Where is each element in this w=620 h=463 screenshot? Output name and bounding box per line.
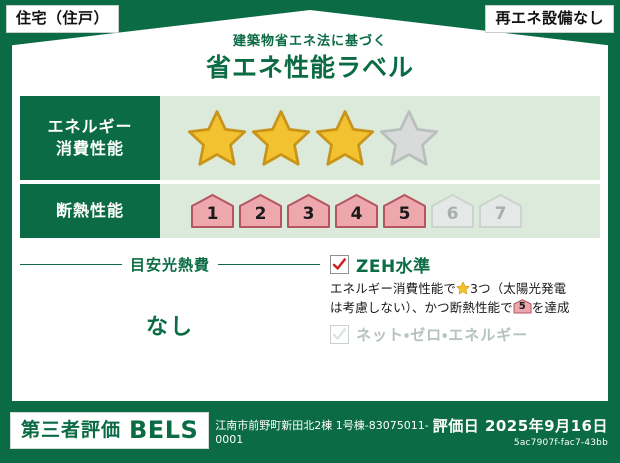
zeh-description: エネルギー消費性能で 3つ（太陽光発電 は考慮しない）、かつ断熱性能で 5 を達… bbox=[330, 280, 600, 318]
label-body-card: エネルギー 消費性能 断熱性能 1234567 目安光熱費 なし bbox=[12, 88, 608, 401]
mini-house-level: 5 bbox=[513, 299, 532, 314]
utility-cost-label: 目安光熱費 bbox=[130, 254, 210, 275]
row-energy-header-line2: 消費性能 bbox=[56, 138, 124, 160]
insulation-level-label: 6 bbox=[447, 206, 459, 229]
insulation-level-label: 3 bbox=[303, 206, 315, 229]
evaluation-date-value: 2025年9月16日 bbox=[485, 417, 608, 435]
insulation-level-3: 3 bbox=[286, 193, 331, 229]
star-empty bbox=[378, 108, 440, 168]
row-insulation-body: 1234567 bbox=[160, 184, 600, 238]
rule-right bbox=[218, 264, 320, 265]
mini-house-icon: 5 bbox=[513, 299, 532, 314]
evaluation-date: 評価日 2025年9月16日 bbox=[433, 418, 608, 435]
row-insulation-header: 断熱性能 bbox=[20, 184, 160, 238]
star-filled bbox=[186, 108, 248, 168]
star-filled bbox=[314, 108, 376, 168]
certificate-hash: 5ac7907f-fac7-43bb bbox=[433, 437, 608, 450]
zeh-desc-stars: 3つ（太陽光発電 bbox=[470, 281, 566, 296]
insulation-level-2: 2 bbox=[238, 193, 283, 229]
row-energy-header-line1: エネルギー bbox=[47, 116, 132, 138]
bels-logo: 第三者評価 BELS bbox=[10, 412, 209, 449]
row-insulation-performance: 断熱性能 1234567 bbox=[20, 184, 600, 238]
zeh-title: ZEH水準 bbox=[356, 252, 431, 277]
insulation-level-label: 1 bbox=[207, 206, 219, 229]
insulation-level-7: 7 bbox=[478, 193, 523, 229]
insulation-level-1: 1 bbox=[190, 193, 235, 229]
row-energy-body bbox=[160, 96, 600, 180]
row-energy-performance: エネルギー 消費性能 bbox=[20, 96, 600, 180]
insulation-level-label: 2 bbox=[255, 206, 267, 229]
zeh-desc-part1: エネルギー消費性能で bbox=[330, 281, 456, 296]
badge-renewable-energy: 再エネ設備なし bbox=[485, 5, 614, 33]
footer: 第三者評価 BELS 江南市前野町新田北2棟 1号棟-83075011-0001… bbox=[0, 405, 620, 463]
zeh-checkbox bbox=[330, 255, 349, 274]
property-address: 江南市前野町新田北2棟 1号棟-83075011-0001 bbox=[215, 419, 430, 448]
star-rating bbox=[186, 108, 440, 168]
zeh-block: ZEH水準 エネルギー消費性能で 3つ（太陽光発電 は考慮しない）、かつ断熱性能… bbox=[320, 246, 600, 393]
star-filled bbox=[250, 108, 312, 168]
insulation-level-6: 6 bbox=[430, 193, 475, 229]
insulation-level-5: 5 bbox=[382, 193, 427, 229]
zeh-title-row: ZEH水準 bbox=[330, 252, 600, 277]
badge-building-type: 住宅（住戸） bbox=[6, 5, 119, 33]
insulation-level-label: 5 bbox=[399, 206, 411, 229]
zeh-desc-part3: を達成 bbox=[532, 300, 570, 315]
row-energy-header: エネルギー 消費性能 bbox=[20, 96, 160, 180]
net-zero-row: ネット・ゼロ・エネルギー bbox=[330, 324, 600, 345]
utility-cost-block: 目安光熱費 なし bbox=[20, 246, 320, 393]
bels-energy-label: 住宅（住戸） 再エネ設備なし 建築物省エネ法に基づく 省エネ性能ラベル エネルギ… bbox=[0, 0, 620, 463]
insulation-level-label: 4 bbox=[351, 206, 363, 229]
bels-logo-jp: 第三者評価 bbox=[21, 421, 121, 440]
mini-star-icon bbox=[456, 281, 470, 295]
net-zero-checkbox bbox=[330, 325, 349, 344]
lower-section: 目安光熱費 なし ZEH水準 エネルギー消費性能で bbox=[20, 246, 600, 393]
utility-cost-value: なし bbox=[20, 309, 320, 341]
insulation-level-label: 7 bbox=[495, 206, 507, 229]
rule-left bbox=[20, 264, 122, 265]
insulation-level-scale: 1234567 bbox=[190, 193, 523, 229]
net-zero-label: ネット・ゼロ・エネルギー bbox=[356, 324, 528, 345]
evaluation-info: 評価日 2025年9月16日 5ac7907f-fac7-43bb bbox=[433, 418, 608, 449]
insulation-level-4: 4 bbox=[334, 193, 379, 229]
evaluation-date-label: 評価日 bbox=[433, 417, 480, 435]
utility-cost-heading: 目安光熱費 bbox=[20, 254, 320, 275]
bels-logo-en: BELS bbox=[129, 418, 198, 442]
zeh-desc-part2: は考慮しない）、かつ断熱性能で bbox=[330, 300, 513, 315]
